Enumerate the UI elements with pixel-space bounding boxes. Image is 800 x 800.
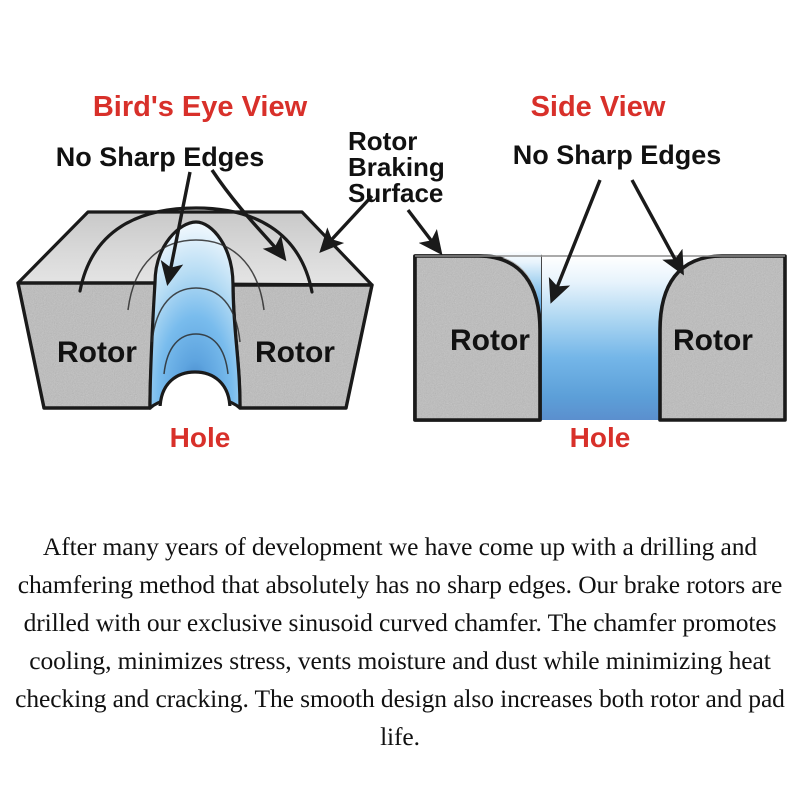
side-view-hole-label: Hole [570,422,631,453]
diagram-page: Bird's Eye View No Sharp Edges Rotor Bra… [0,0,800,800]
side-rotor-right-label: Rotor [673,324,753,357]
birds-eye-rotor-right-label: Rotor [255,336,335,369]
side-view-no-sharp-edges-label: No Sharp Edges [513,140,722,170]
description-paragraph: After many years of development we have … [8,528,792,756]
braking-surface-arrow-right [408,210,440,252]
side-view-title: Side View [531,91,666,123]
birds-eye-rotor-left-label: Rotor [57,336,137,369]
rotor-braking-surface-line3: Surface [348,178,443,208]
side-view-graphic [408,180,785,420]
birds-eye-no-sharp-edges-label: No Sharp Edges [56,142,265,172]
birds-eye-hole-label: Hole [170,422,231,453]
birds-eye-title: Bird's Eye View [93,91,308,123]
birds-eye-view-graphic [18,170,372,414]
side-rotor-left-label: Rotor [450,324,530,357]
hole-notch-baseline-mask [158,406,232,414]
